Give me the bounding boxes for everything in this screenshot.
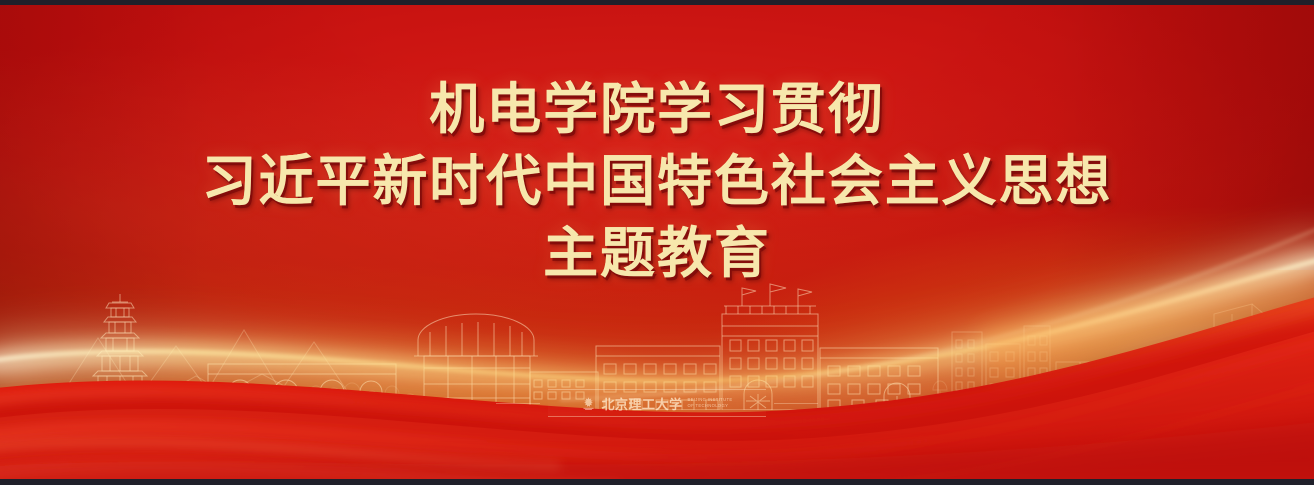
bit-crest-icon — [581, 396, 596, 411]
event-banner: 北京理工大学 BEIJING INSTITUTE OF TECHNOLOGY 机… — [0, 0, 1314, 485]
red-silk-ribbon — [0, 270, 1314, 485]
watermark-chinese-name: 北京理工大学 — [601, 394, 682, 413]
watermark-english-line1: BEIJING INSTITUTE — [687, 397, 732, 402]
watermark-english-line2: OF TECHNOLOGY — [687, 403, 728, 408]
title-line-3: 主题教育 — [0, 226, 1314, 281]
university-watermark-plaque: 北京理工大学 BEIJING INSTITUTE OF TECHNOLOGY — [548, 389, 766, 417]
title-line-1: 机电学院学习贯彻 — [0, 82, 1314, 137]
watermark-english-name: BEIJING INSTITUTE OF TECHNOLOGY — [687, 397, 732, 409]
banner-title: 机电学院学习贯彻 习近平新时代中国特色社会主义思想 主题教育 — [0, 82, 1314, 281]
letterbox-top — [0, 0, 1314, 5]
letterbox-bottom — [0, 479, 1314, 485]
title-line-2: 习近平新时代中国特色社会主义思想 — [0, 154, 1314, 209]
